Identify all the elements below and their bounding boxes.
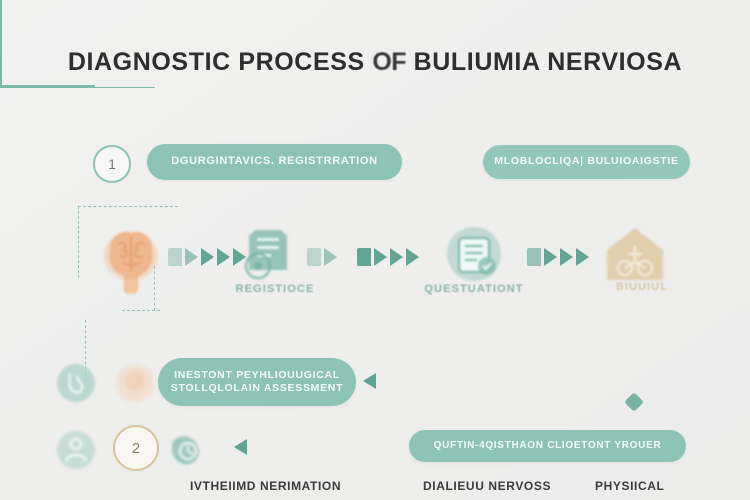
weight-scale-icon — [112, 360, 158, 406]
page-title-part-1: DIAGNOSTIC PROCESS — [68, 48, 365, 76]
bracket-left-line — [78, 206, 79, 278]
arrow-chevron — [307, 248, 321, 266]
arrow-left-upper — [363, 373, 376, 389]
bracket-top-line — [78, 206, 178, 207]
bottom-label-physical: PHYSIICAL — [595, 479, 664, 493]
house-health-icon — [601, 224, 669, 286]
connector-horizontal-lower — [0, 87, 155, 89]
arrow-chevron — [374, 248, 387, 266]
page-title-part-3: BULIUMIA NERVIOSA — [414, 48, 683, 76]
stomach-icon — [56, 363, 96, 403]
pill-diagnostics-registration-label: DGURGINTAVICS. REGISTRRATION — [171, 155, 378, 169]
step-badge-1-label: 1 — [108, 156, 116, 172]
bottom-label-interview: IVTHEIIMD NERIMATION — [190, 479, 341, 493]
pill-questionnaire-client-label: QUFTIN-4QISTHAON CLIOETONT YROUER — [434, 440, 662, 453]
patient-person-icon — [56, 430, 96, 470]
arrow-chevron — [544, 248, 557, 266]
arrow-chevron — [185, 248, 198, 266]
arrow-chevron — [406, 248, 419, 266]
pill-psychological-assessment-line-2: STOLLQLOLAIN ASSESSMENT — [171, 382, 343, 395]
registration-form-icon — [235, 226, 301, 282]
arrow-chevron — [201, 248, 214, 266]
house-health-icon-label: BIUUIUL — [583, 281, 701, 293]
step-badge-1: 1 — [93, 145, 131, 183]
step-badge-2-label: 2 — [132, 440, 140, 457]
arrow-chevron — [527, 248, 541, 266]
arrow-chevron — [217, 248, 230, 266]
questionnaire-icon-label: QUESTUATIONT — [412, 283, 536, 295]
arrow-group-3 — [357, 248, 419, 266]
pill-biological-bulimia-label: MLOBLOCLIQA| BULUIOAIGSTIE — [494, 155, 678, 168]
pill-biological-bulimia[interactable]: MLOBLOCLIQA| BULUIOAIGSTIE — [483, 145, 690, 179]
arrow-chevron — [390, 248, 403, 266]
arrow-group-4 — [527, 248, 589, 266]
questionnaire-icon — [443, 226, 505, 284]
step-badge-2: 2 — [113, 425, 159, 471]
page-title-part-2: OF — [372, 48, 406, 76]
bracket-bottom-line — [122, 310, 160, 311]
pill-psychological-assessment[interactable]: INESTONT PEYHLIOUUGICAL STOLLQLOLAIN ASS… — [158, 358, 356, 406]
arrow-chevron — [168, 248, 182, 266]
pill-questionnaire-client[interactable]: QUFTIN-4QISTHAON CLIOETONT YROUER — [409, 430, 686, 462]
brain-icon — [100, 222, 162, 300]
arrow-chevron — [357, 248, 371, 266]
registration-icon-label: REGISTIOCE — [213, 283, 337, 295]
arrow-chevron — [324, 248, 337, 266]
bottom-label-bulimia-nervosa: DIALIEUU NERVOSS — [423, 479, 551, 493]
connector-diamond-arrowhead — [624, 392, 644, 412]
arrow-chevron — [560, 248, 573, 266]
arrow-left-lower — [234, 439, 247, 455]
diagram-canvas: DIAGNOSTIC PROCESS OF BULIUMIA NERVIOSA … — [0, 0, 750, 500]
arrow-chevron — [576, 248, 589, 266]
arrow-group-2 — [307, 248, 337, 266]
pill-psychological-assessment-line-1: INESTONT PEYHLIOUUGICAL — [174, 369, 340, 382]
clipboard-chart-icon — [166, 432, 206, 470]
pill-diagnostics-registration[interactable]: DGURGINTAVICS. REGISTRRATION — [147, 144, 402, 180]
page-title: DIAGNOSTIC PROCESS OF BULIUMIA NERVIOSA — [0, 48, 750, 77]
